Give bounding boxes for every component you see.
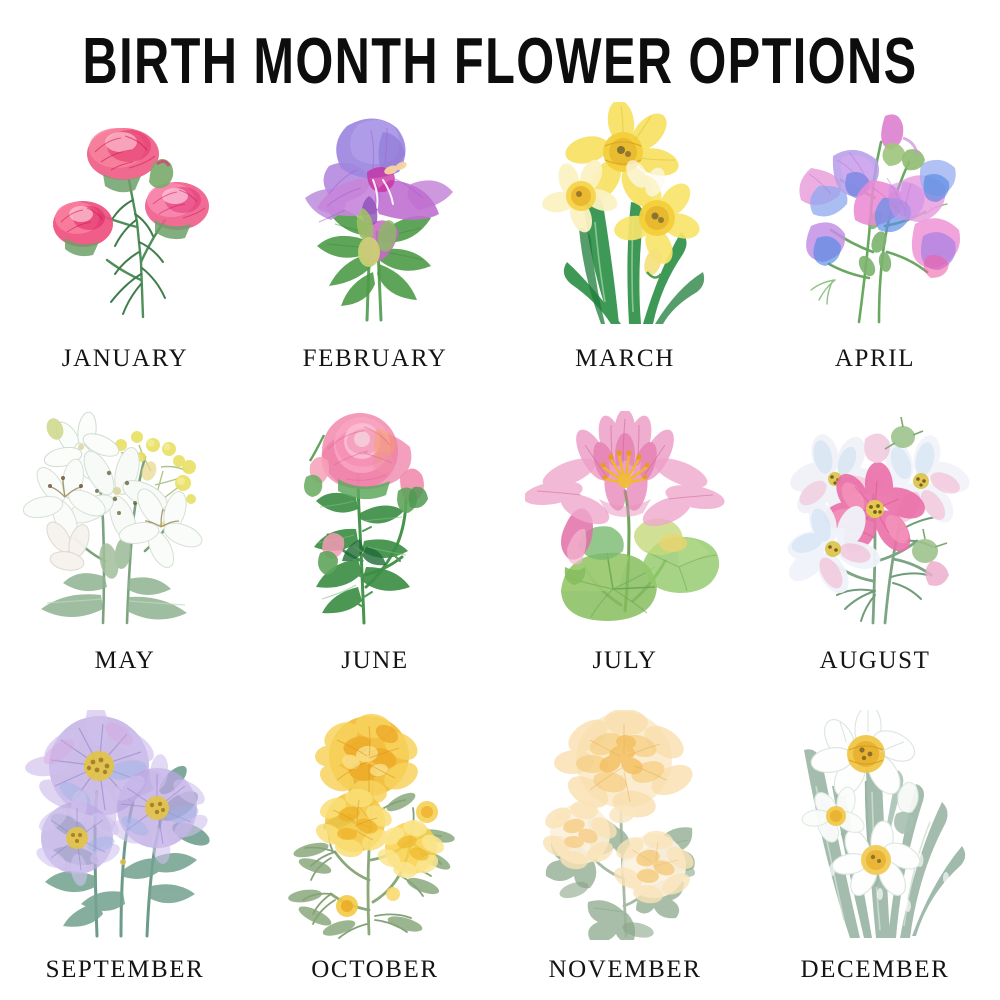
rose-flower-icon	[250, 391, 500, 649]
cosmos-flower-icon	[750, 391, 1000, 649]
flower-cell-june[interactable]: JUNE	[250, 391, 500, 696]
month-label-september: SEPTEMBER	[46, 957, 205, 1000]
chrysanthemum-flower-icon	[500, 695, 750, 957]
flower-cell-august[interactable]: AUGUST	[750, 391, 1000, 696]
flower-cell-november[interactable]: NOVEMBER	[500, 695, 750, 1000]
flower-cell-february[interactable]: FEBRUARY	[250, 86, 500, 391]
marigold-bud-right	[416, 801, 438, 823]
month-label-january: JANUARY	[62, 346, 189, 391]
page-title: BIRTH MONTH FLOWER OPTIONS	[40, 0, 960, 94]
iris-flower-icon	[250, 86, 500, 346]
sweet-pea-bloom-4	[912, 219, 960, 279]
sweet-pea-bloom-3	[920, 160, 956, 202]
flower-cell-march[interactable]: MARCH	[500, 86, 750, 391]
flower-cell-july[interactable]: JULY	[500, 391, 750, 696]
month-label-may: MAY	[95, 648, 156, 695]
month-label-july: JULY	[592, 648, 657, 695]
sweet-pea-bud	[881, 115, 925, 171]
daffodil-flower-icon	[500, 86, 750, 346]
chrysanthemum-bloom-left	[539, 800, 620, 872]
marigold-flower-icon	[250, 695, 500, 957]
sweet-pea-flower-icon	[750, 86, 1000, 346]
carnation-flower-icon	[0, 86, 250, 346]
water-lily-bloom	[525, 411, 725, 533]
carnation-bloom-top	[87, 128, 159, 192]
flower-grid: JANUARY	[0, 86, 1000, 1000]
aster-flower-icon	[0, 695, 250, 957]
marigold-bud-lower	[336, 895, 358, 917]
flower-cell-september[interactable]: SEPTEMBER	[0, 695, 250, 1000]
sweet-pea-bloom-5	[806, 223, 845, 267]
water-lily-flower-icon	[500, 391, 750, 649]
month-label-february: FEBRUARY	[303, 346, 448, 391]
marigold-bud-small	[386, 887, 400, 901]
marigold-bloom-right	[375, 819, 448, 881]
month-label-october: OCTOBER	[311, 957, 438, 1000]
flower-cell-april[interactable]: APRIL	[750, 86, 1000, 391]
month-label-december: DECEMBER	[801, 957, 950, 1000]
flower-cell-december[interactable]: DECEMBER	[750, 695, 1000, 1000]
month-label-august: AUGUST	[820, 648, 931, 695]
month-label-november: NOVEMBER	[548, 957, 701, 1000]
flower-cell-october[interactable]: OCTOBER	[250, 695, 500, 1000]
flower-cell-may[interactable]: MAY	[0, 391, 250, 696]
white-lily-flower-icon	[0, 391, 250, 649]
month-label-april: APRIL	[835, 346, 915, 391]
narcissus-flower-icon	[750, 695, 1000, 957]
flower-cell-january[interactable]: JANUARY	[0, 86, 250, 391]
month-label-march: MARCH	[575, 346, 675, 391]
carnation-bloom-middle	[145, 182, 209, 239]
month-label-june: JUNE	[341, 648, 409, 695]
carnation-bloom-lower	[53, 201, 113, 256]
cosmos-bud-right	[912, 529, 949, 586]
rose-bud-right	[397, 468, 428, 513]
poster-canvas: BIRTH MONTH FLOWER OPTIONS	[0, 0, 1000, 1000]
rose-bloom	[321, 413, 411, 499]
